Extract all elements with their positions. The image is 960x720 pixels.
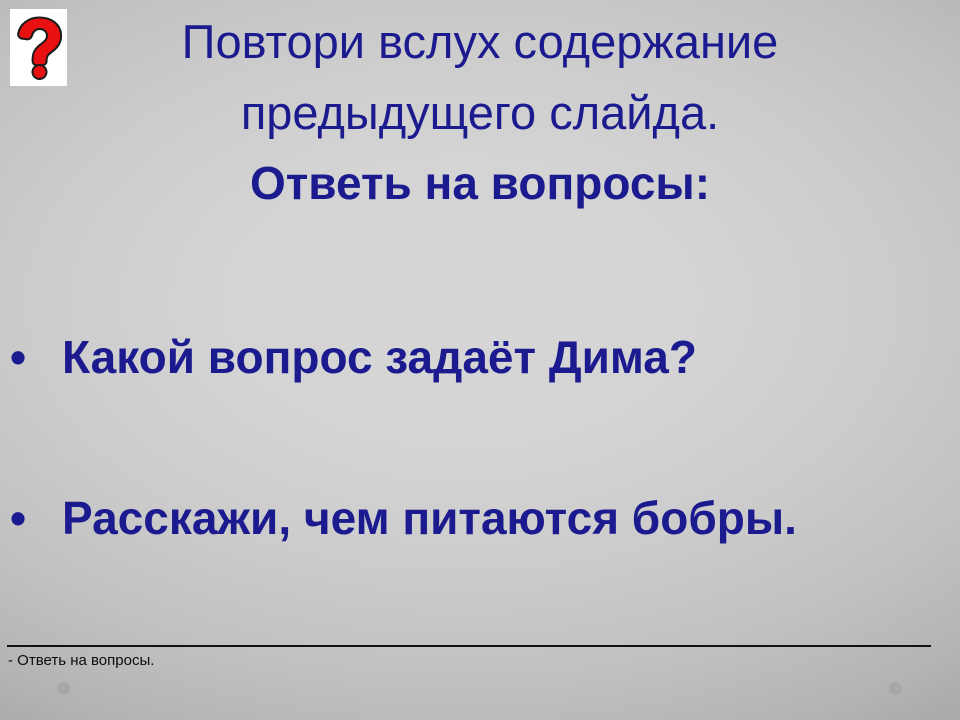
bullet-marker-icon: •: [10, 491, 62, 545]
page-title: Повтори вслух содержание предыдущего сла…: [0, 6, 960, 219]
title-line-2: предыдущего слайда.: [0, 77, 960, 148]
footer-divider: [7, 645, 931, 647]
question-list: • Какой вопрос задаёт Дима? • Расскажи, …: [0, 330, 960, 546]
title-line-1: Повтори вслух содержание: [0, 6, 960, 77]
list-item: • Какой вопрос задаёт Дима?: [10, 330, 960, 384]
decorative-dot-left: [57, 682, 70, 695]
slide-canvas: Повтори вслух содержание предыдущего сла…: [0, 0, 960, 720]
decorative-dot-right: [889, 682, 902, 695]
list-item-label: Какой вопрос задаёт Дима?: [62, 330, 697, 384]
footer-note: - Ответь на вопросы.: [8, 650, 154, 671]
list-item: • Расскажи, чем питаются бобры.: [10, 491, 960, 545]
bullet-marker-icon: •: [10, 330, 62, 384]
title-line-3: Ответь на вопросы:: [0, 149, 960, 219]
list-item-label: Расскажи, чем питаются бобры.: [62, 491, 797, 545]
